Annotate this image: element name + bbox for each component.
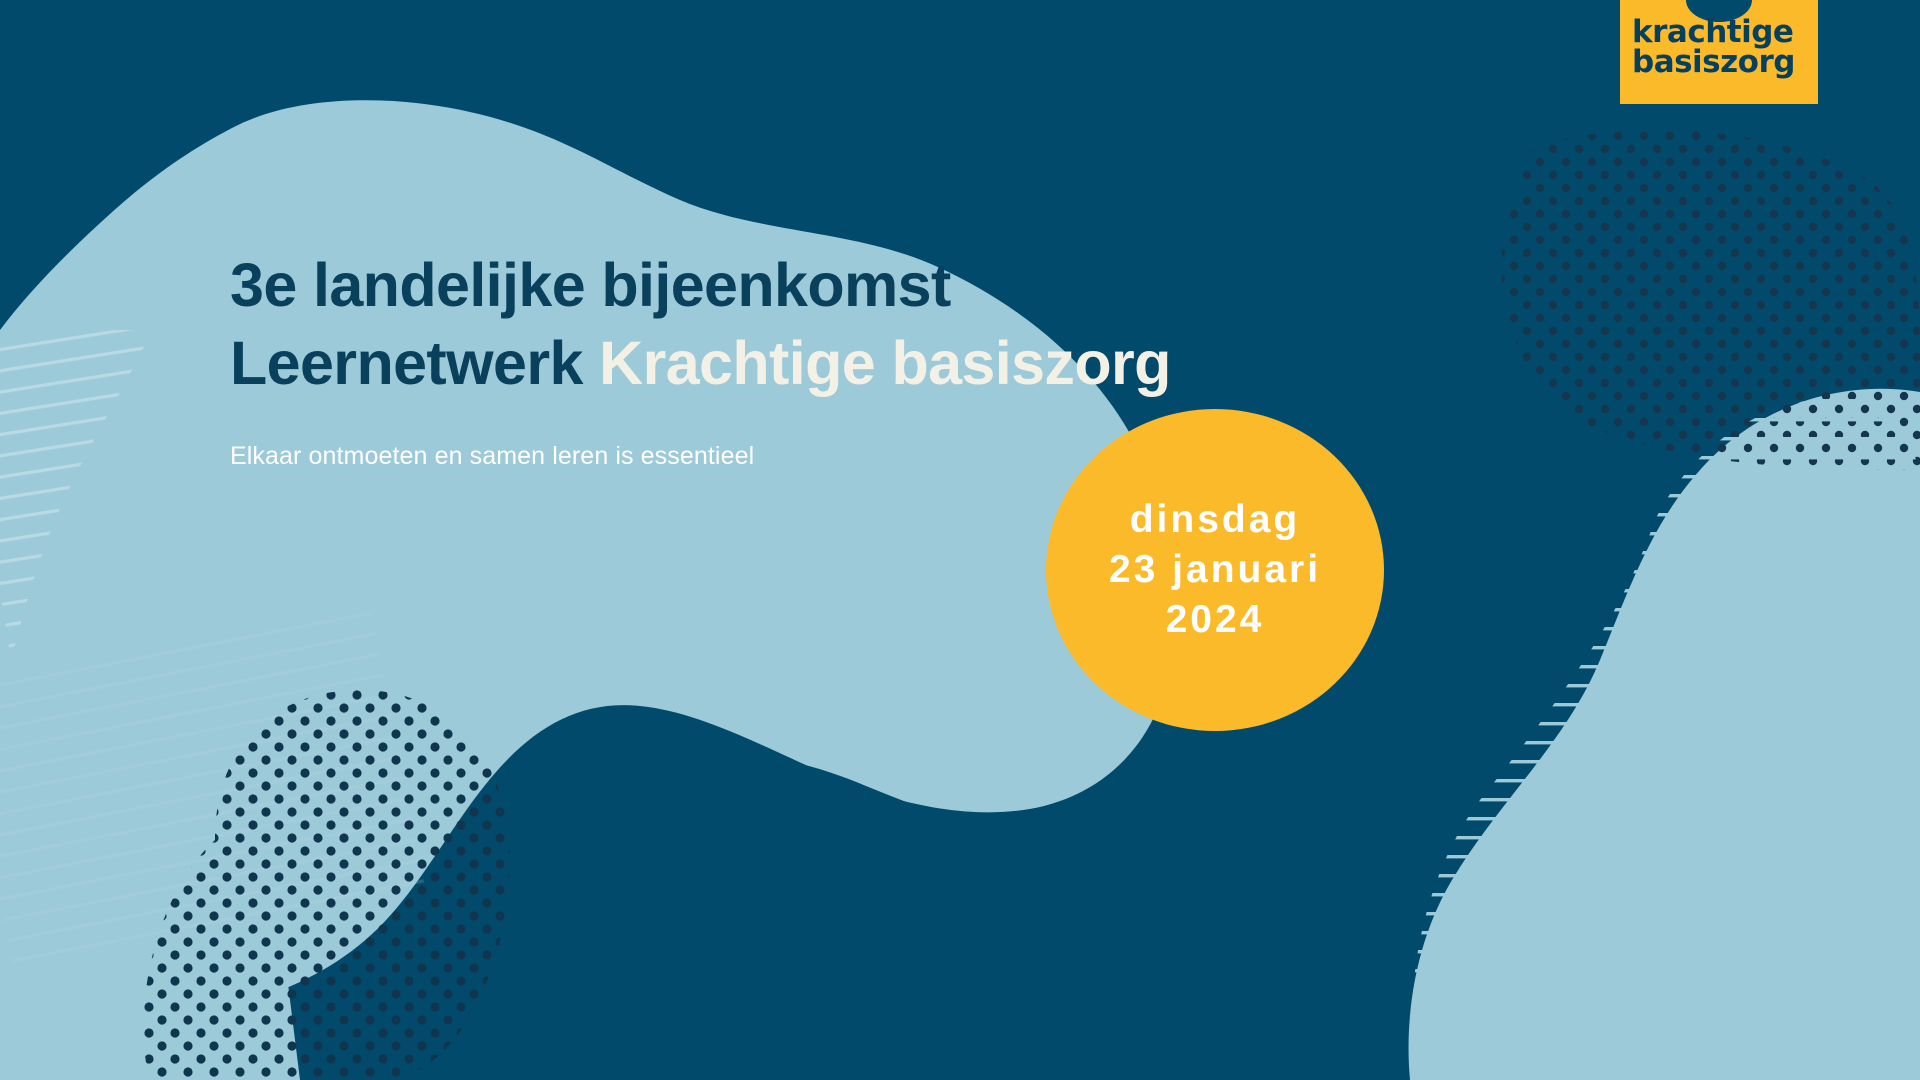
date-year: 2024 [1166, 595, 1265, 645]
page-title-line-1: 3e landelijke bijeenkomst [230, 246, 1230, 324]
logo-line-2: basiszorg [1632, 48, 1812, 78]
logo-text: krachtige basiszorg [1632, 18, 1812, 78]
date-weekday: dinsdag [1130, 495, 1301, 545]
event-date-badge: dinsdag 23 januari 2024 [1046, 409, 1384, 731]
background-graphics [0, 0, 1920, 1080]
brand-logo[interactable]: krachtige basiszorg [1620, 0, 1818, 104]
slide-canvas: krachtige basiszorg 3e landelijke bijeen… [0, 0, 1920, 1080]
page-title-line-2-brand: Krachtige basiszorg [599, 329, 1171, 397]
headline-block: 3e landelijke bijeenkomst Leernetwerk Kr… [230, 246, 1230, 471]
page-subtitle: Elkaar ontmoeten en samen leren is essen… [230, 442, 1230, 471]
date-day-month: 23 januari [1109, 545, 1321, 595]
page-title-line-2: Leernetwerk Krachtige basiszorg [230, 324, 1230, 402]
page-title-line-2-primary: Leernetwerk [230, 329, 599, 397]
